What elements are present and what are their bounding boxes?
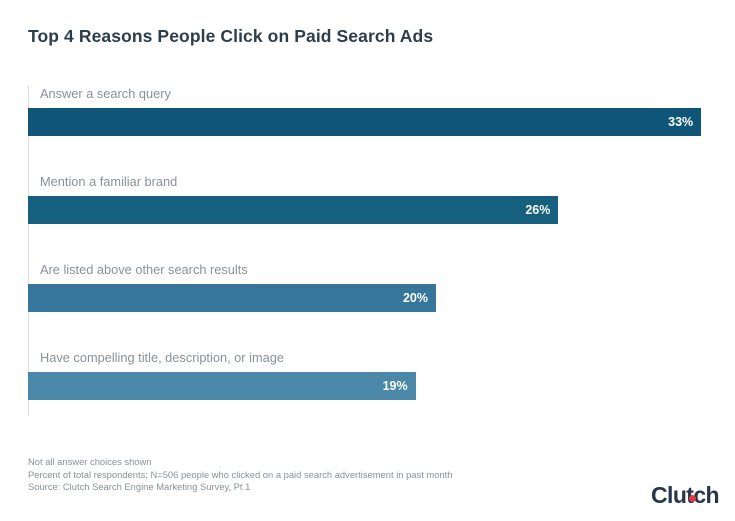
footnote-line-2: Percent of total respondents; N=506 peop… <box>28 469 452 482</box>
bar-segment[interactable]: 20% <box>28 284 436 312</box>
bar-segment[interactable]: 19% <box>28 372 416 400</box>
bar-category-label: Answer a search query <box>40 86 171 102</box>
bar-value-label: 26% <box>525 203 550 217</box>
page-title: Top 4 Reasons People Click on Paid Searc… <box>28 26 433 47</box>
plot-area: Answer a search query 33% Mention a fami… <box>28 86 718 416</box>
chart-footnotes: Not all answer choices shown Percent of … <box>28 456 452 494</box>
chart-container: Top 4 Reasons People Click on Paid Searc… <box>0 0 735 521</box>
bar-segment[interactable]: 33% <box>28 108 701 136</box>
footnote-line-1: Not all answer choices shown <box>28 456 452 469</box>
bar-category-label: Have compelling title, description, or i… <box>40 350 284 366</box>
bar-group: Are listed above other search results 20… <box>28 262 718 322</box>
bar-group: Answer a search query 33% <box>28 86 718 146</box>
bar-category-label: Are listed above other search results <box>40 262 248 278</box>
bar-group: Have compelling title, description, or i… <box>28 350 718 410</box>
clutch-logo: Clutch <box>651 484 719 507</box>
bar-value-label: 20% <box>403 291 428 305</box>
clutch-logo-text: Clutch <box>651 484 719 507</box>
footnote-line-3: Source: Clutch Search Engine Marketing S… <box>28 481 452 494</box>
clutch-logo-dot-icon <box>689 495 696 502</box>
bar-group: Mention a familiar brand 26% <box>28 174 718 234</box>
bar-value-label: 19% <box>383 379 408 393</box>
bar-category-label: Mention a familiar brand <box>40 174 177 190</box>
bar-segment[interactable]: 26% <box>28 196 558 224</box>
bar-value-label: 33% <box>668 115 693 129</box>
